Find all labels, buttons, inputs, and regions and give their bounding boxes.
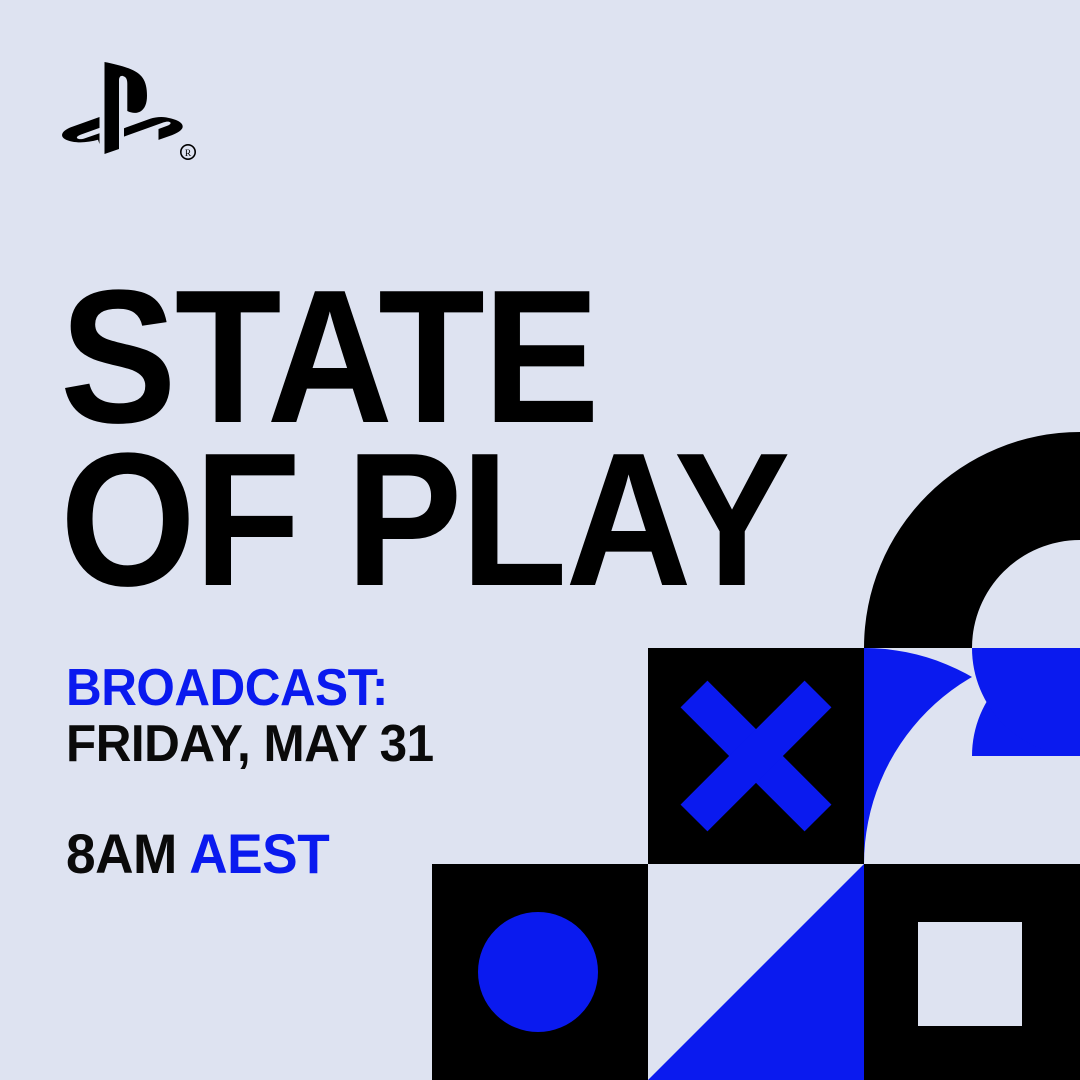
- broadcast-date: FRIDAY, MAY 31: [66, 716, 655, 772]
- headline-line-2: OF PLAY: [60, 439, 851, 602]
- broadcast-time-hour: 8AM: [66, 822, 177, 885]
- pattern-square-light: [864, 864, 1080, 1080]
- broadcast-time-zone: AEST: [189, 822, 329, 885]
- pattern-quarter-ring-black: [864, 432, 1080, 648]
- broadcast-info: BROADCAST: FRIDAY, MAY 31: [66, 660, 686, 772]
- pattern-quarter-ring-blue: [864, 648, 1080, 864]
- broadcast-label: BROADCAST:: [66, 660, 655, 716]
- state-of-play-poster: R STATE OF PLAY BROADCAST: FRIDAY, MAY 3…: [0, 0, 1080, 1080]
- svg-text:R: R: [185, 149, 192, 159]
- page-title: STATE OF PLAY: [60, 276, 920, 603]
- pattern-cross-blue: [648, 648, 864, 864]
- pattern-circle-blue: [432, 864, 648, 1080]
- pattern-triangle-blue: [648, 864, 864, 1080]
- playstation-logo-icon: R: [62, 58, 198, 162]
